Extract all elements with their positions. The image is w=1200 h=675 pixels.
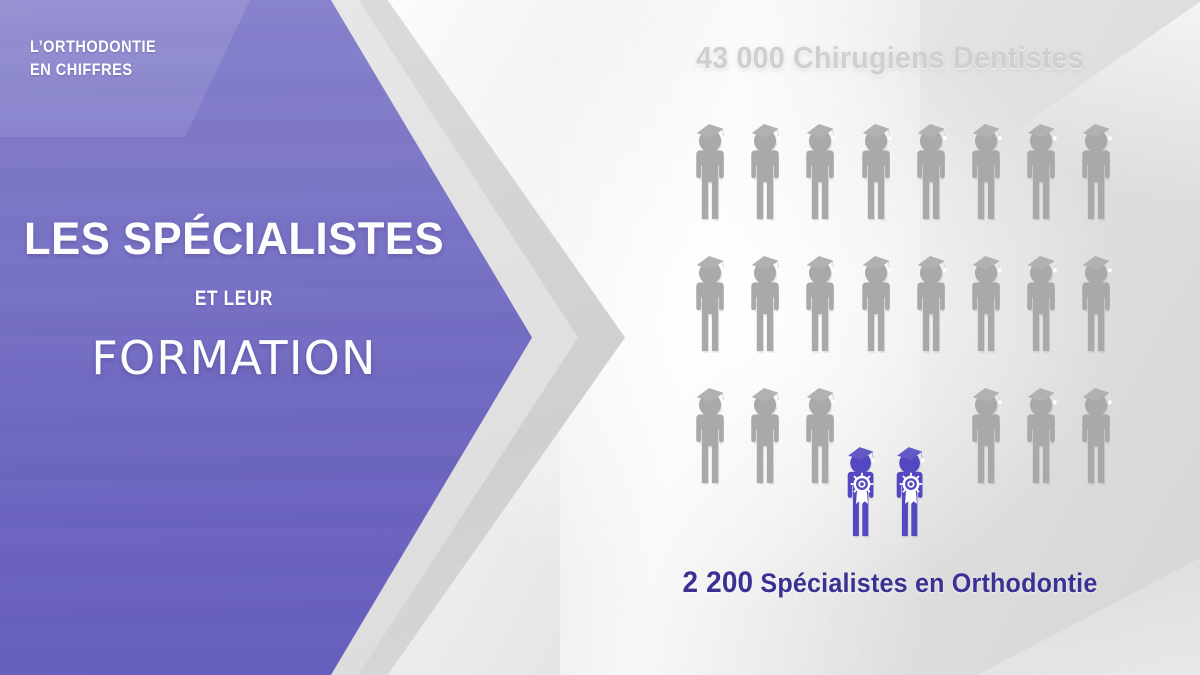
graduate-person-icon bbox=[909, 108, 955, 221]
graduate-person-icon bbox=[964, 372, 1010, 485]
graduate-person-icon bbox=[1074, 108, 1120, 221]
graduate-person-icon bbox=[743, 240, 789, 353]
graduate-person-icon bbox=[1074, 240, 1120, 353]
infographic-slide: L’ORTHODONTIE EN CHIFFRES LES SPÉCIALIST… bbox=[0, 0, 1200, 675]
graduate-person-with-medal-icon bbox=[840, 432, 883, 538]
graduate-person-icon bbox=[688, 372, 734, 485]
graduate-person-icon bbox=[743, 108, 789, 221]
graduate-person-icon bbox=[1019, 108, 1065, 221]
title-subject: FORMATION bbox=[0, 335, 468, 381]
specialists-label: Spécialistes en Orthodontie bbox=[753, 568, 1097, 598]
eyebrow-kicker: L’ORTHODONTIE EN CHIFFRES bbox=[30, 36, 215, 83]
graduate-person-icon bbox=[964, 240, 1010, 353]
pictogram-row bbox=[688, 240, 1128, 372]
title-connector: ET LEUR bbox=[42, 287, 426, 311]
graduate-person-with-medal-icon bbox=[889, 432, 932, 538]
pictogram-highlight-group bbox=[840, 432, 932, 538]
page-title: LES SPÉCIALISTES bbox=[7, 216, 461, 261]
graduate-person-icon bbox=[964, 108, 1010, 221]
graduate-person-icon bbox=[798, 240, 844, 353]
eyebrow-line-1: L’ORTHODONTIE bbox=[30, 38, 156, 56]
graduate-person-icon bbox=[798, 108, 844, 221]
graduate-person-icon bbox=[743, 372, 789, 485]
chart-caption-specialists: 2 200 Spécialistes en Orthodontie bbox=[658, 566, 1123, 600]
graduate-person-icon bbox=[1019, 372, 1065, 485]
specialists-count: 2 200 bbox=[682, 566, 753, 599]
eyebrow-line-2: EN CHIFFRES bbox=[30, 59, 215, 82]
pictogram-row bbox=[688, 108, 1128, 240]
pictogram-chart: 43 000 Chirugiens Dentistes bbox=[640, 0, 1200, 675]
graduate-person-icon bbox=[854, 108, 900, 221]
graduate-person-icon bbox=[1019, 240, 1065, 353]
chart-caption-dentists: 43 000 Chirugiens Dentistes bbox=[660, 40, 1120, 76]
graduate-person-icon bbox=[909, 240, 955, 353]
graduate-person-icon bbox=[798, 372, 844, 485]
title-block: LES SPÉCIALISTES ET LEUR FORMATION bbox=[0, 216, 468, 381]
graduate-person-icon bbox=[688, 240, 734, 353]
graduate-person-icon bbox=[854, 240, 900, 353]
graduate-person-icon bbox=[688, 108, 734, 221]
graduate-person-icon bbox=[1074, 372, 1120, 485]
